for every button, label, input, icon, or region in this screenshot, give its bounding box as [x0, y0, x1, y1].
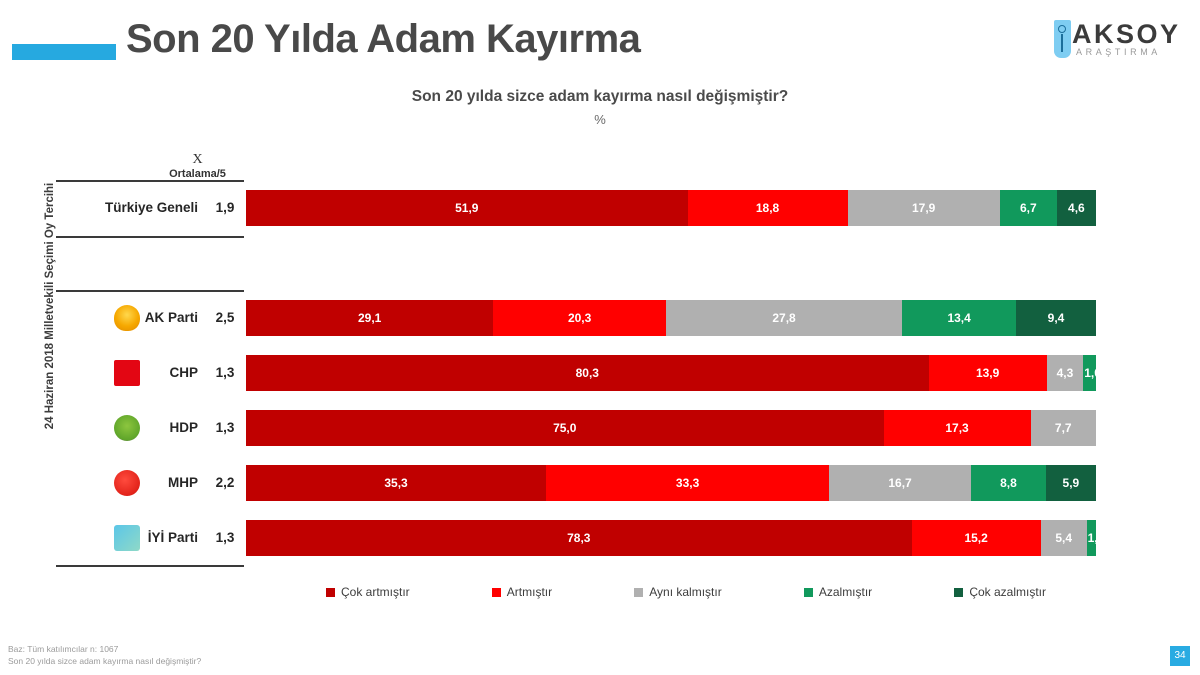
stacked-bar: 29,120,327,813,49,4: [246, 300, 1096, 336]
footer-line-base: Baz: Tüm katılımcılar n: 1067: [8, 644, 201, 656]
chart-subtitle: Son 20 yılda sizce adam kayırma nasıl de…: [0, 88, 1200, 106]
row-average-value: 1,3: [206, 510, 244, 565]
average-column-symbol: X: [150, 152, 245, 167]
stacked-bar: 80,313,94,31,00,5: [246, 355, 1096, 391]
iyi-parti-logo: [114, 525, 140, 551]
row-label-zone: İYİ Parti1,3: [56, 510, 244, 565]
chart-row: AK Parti2,529,120,327,813,49,4: [56, 290, 1096, 345]
legend-item: Çok artmıştır: [326, 585, 410, 599]
page-number-badge: 34: [1170, 646, 1190, 666]
bar-segment: 51,9: [246, 190, 688, 226]
row-label-zone: Türkiye Geneli1,9: [56, 180, 244, 235]
logo-wordmark: AKSOY: [1072, 19, 1181, 50]
chart-row: MHP2,235,333,316,78,85,9: [56, 455, 1096, 510]
row-average-value: 1,3: [206, 345, 244, 400]
bar-segment: 27,8: [666, 300, 902, 336]
stacked-bar: 51,918,817,96,74,6: [246, 190, 1096, 226]
party-rows-group: AK Parti2,529,120,327,813,49,4CHP1,380,3…: [56, 290, 1096, 565]
chart-row: HDP1,375,017,37,7: [56, 400, 1096, 455]
legend-label: Çok azalmıştır: [969, 585, 1046, 599]
group-rule-bottom: [56, 236, 244, 238]
bar-segment: 17,9: [848, 190, 1000, 226]
bar-segment: 1,0: [1083, 355, 1096, 391]
legend-label: Aynı kalmıştır: [649, 585, 721, 599]
hdp-logo: [114, 415, 140, 441]
bar-segment: 18,8: [688, 190, 848, 226]
row-label-zone: AK Parti2,5: [56, 290, 244, 345]
bar-segment: 5,9: [1046, 465, 1096, 501]
bar-segment: 13,4: [902, 300, 1016, 336]
stacked-bar: 78,315,25,41,1: [246, 520, 1096, 556]
bar-segment: 17,3: [884, 410, 1031, 446]
bar-segment: 4,3: [1047, 355, 1084, 391]
chart-row: CHP1,380,313,94,31,00,5: [56, 345, 1096, 400]
row-category-label: HDP: [169, 400, 198, 455]
bar-segment: 5,4: [1041, 520, 1087, 556]
bar-segment: 78,3: [246, 520, 912, 556]
bar-segment: 80,3: [246, 355, 929, 391]
chart-unit-label: %: [0, 112, 1200, 127]
stacked-bar: 75,017,37,7: [246, 410, 1096, 446]
group-rule-bottom: [56, 565, 244, 567]
row-average-value: 1,3: [206, 400, 244, 455]
average-column-header: X Ortalama/5: [150, 152, 245, 181]
row-average-value: 2,2: [206, 455, 244, 510]
bar-segment: 33,3: [546, 465, 829, 501]
row-label-zone: CHP1,3: [56, 345, 244, 400]
overall-row-group: Türkiye Geneli1,951,918,817,96,74,6: [56, 180, 1096, 235]
bar-segment: 13,9: [929, 355, 1047, 391]
legend-swatch-icon: [326, 588, 335, 597]
row-average-value: 2,5: [206, 290, 244, 345]
bar-segment: 7,7: [1031, 410, 1096, 446]
chart-row: Türkiye Geneli1,951,918,817,96,74,6: [56, 180, 1096, 235]
bar-segment: 4,6: [1057, 190, 1096, 226]
legend-label: Çok artmıştır: [341, 585, 410, 599]
bar-segment: 1,1: [1087, 520, 1096, 556]
chp-logo: [114, 360, 140, 386]
row-label-zone: HDP1,3: [56, 400, 244, 455]
logo-mark-icon: [1054, 20, 1071, 58]
average-column-label: Ortalama/5: [150, 167, 245, 181]
legend-swatch-icon: [492, 588, 501, 597]
mhp-logo: [114, 470, 140, 496]
bar-segment: 20,3: [493, 300, 666, 336]
title-accent-bar: [12, 44, 116, 60]
bar-segment: 9,4: [1016, 300, 1096, 336]
bar-segment: 16,7: [829, 465, 971, 501]
row-category-label: CHP: [169, 345, 198, 400]
footer-note: Baz: Tüm katılımcılar n: 1067 Son 20 yıl…: [8, 644, 201, 667]
legend-item: Artmıştır: [492, 585, 552, 599]
row-category-label: MHP: [168, 455, 198, 510]
footer-line-question: Son 20 yılda sizce adam kayırma nasıl de…: [8, 656, 201, 668]
legend-label: Azalmıştır: [819, 585, 872, 599]
chart-legend: Çok artmıştırArtmıştırAynı kalmıştırAzal…: [326, 585, 1046, 599]
legend-swatch-icon: [954, 588, 963, 597]
row-category-label: Türkiye Geneli: [105, 180, 198, 235]
row-category-label: İYİ Parti: [148, 510, 198, 565]
logo-subtext: ARAŞTIRMA: [1076, 47, 1161, 57]
stacked-bar: 35,333,316,78,85,9: [246, 465, 1096, 501]
legend-swatch-icon: [634, 588, 643, 597]
chart-row: İYİ Parti1,378,315,25,41,1: [56, 510, 1096, 565]
row-label-zone: MHP2,2: [56, 455, 244, 510]
legend-item: Aynı kalmıştır: [634, 585, 721, 599]
bar-segment: 6,7: [1000, 190, 1057, 226]
vertical-axis-label: 24 Haziran 2018 Milletvekili Seçimi Oy T…: [44, 161, 56, 451]
legend-swatch-icon: [804, 588, 813, 597]
legend-label: Artmıştır: [507, 585, 552, 599]
bar-segment: 29,1: [246, 300, 493, 336]
row-average-value: 1,9: [206, 180, 244, 235]
akp-logo: [114, 305, 140, 331]
row-category-label: AK Parti: [145, 290, 198, 345]
bar-segment: 15,2: [912, 520, 1041, 556]
aksoy-logo: AKSOY ARAŞTIRMA: [1036, 16, 1184, 62]
legend-item: Azalmıştır: [804, 585, 872, 599]
legend-item: Çok azalmıştır: [954, 585, 1046, 599]
bar-segment: 75,0: [246, 410, 884, 446]
page-title: Son 20 Yılda Adam Kayırma: [126, 17, 640, 62]
bar-segment: 8,8: [971, 465, 1046, 501]
bar-segment: 35,3: [246, 465, 546, 501]
